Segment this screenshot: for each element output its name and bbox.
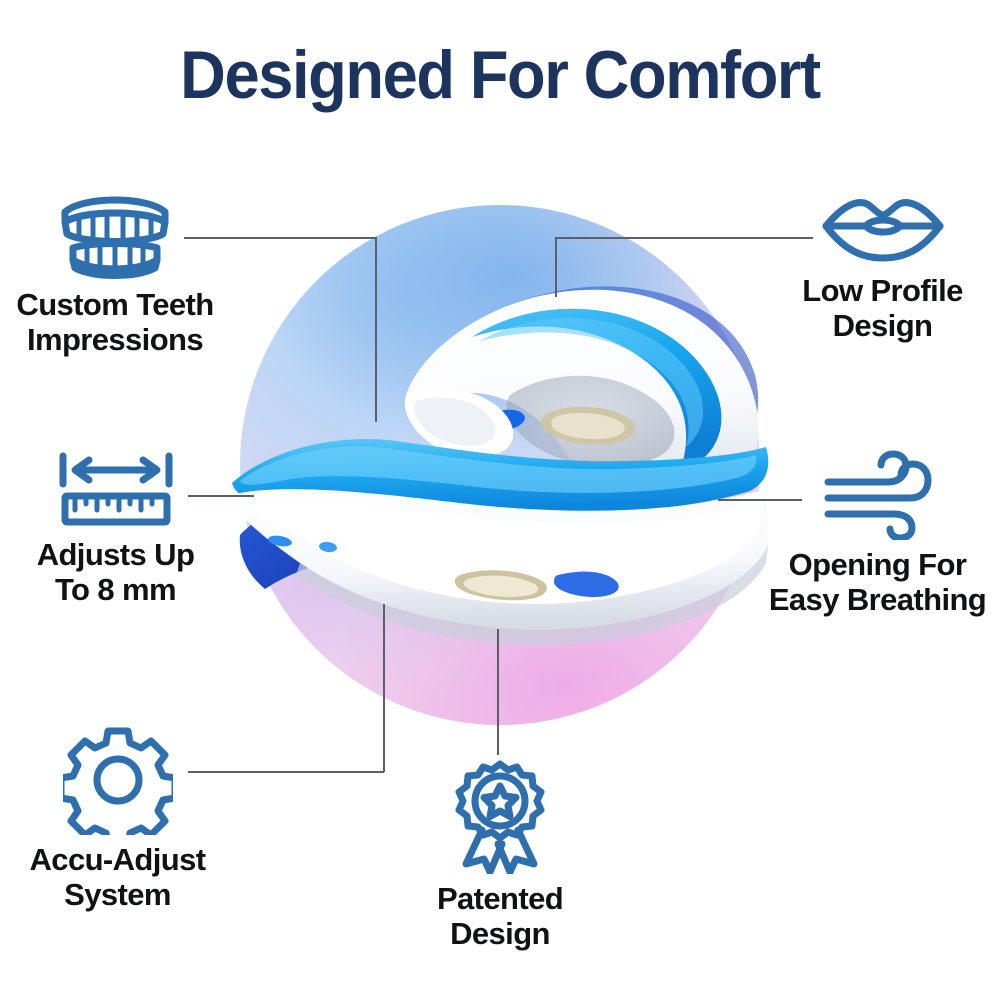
feature-label: Patented Design — [385, 882, 615, 951]
leader-line-lips-v — [555, 237, 557, 297]
mouthpiece-device-illustration — [210, 245, 790, 665]
feature-label: Custom Teeth Impressions — [0, 288, 235, 357]
feature-label: Adjusts Up To 8 mm — [8, 538, 223, 607]
feature-label: Low Profile Design — [765, 274, 1000, 343]
ruler-measure-icon — [8, 450, 223, 530]
lips-mouth-icon — [765, 188, 1000, 266]
page-title: Designed For Comfort — [35, 36, 965, 114]
feature-opening-for-easy-breathing[interactable]: Opening For Easy Breathing — [755, 450, 1000, 617]
gear-icon — [5, 725, 230, 835]
feature-label: Accu-Adjust System — [5, 843, 230, 912]
dentures-teeth-icon — [0, 188, 235, 280]
feature-adjusts-up-to-8mm[interactable]: Adjusts Up To 8 mm — [8, 450, 223, 607]
leader-line-gear-v — [383, 604, 385, 772]
feature-custom-teeth-impressions[interactable]: Custom Teeth Impressions — [0, 188, 235, 357]
leader-line-teeth-v — [375, 237, 377, 422]
leader-line-patent-v — [497, 629, 499, 755]
infographic-canvas: Designed For Comfort — [0, 0, 1000, 1000]
feature-low-profile-design[interactable]: Low Profile Design — [765, 188, 1000, 343]
award-ribbon-star-icon — [385, 758, 615, 874]
feature-patented-design[interactable]: Patented Design — [385, 758, 615, 951]
feature-label: Opening For Easy Breathing — [755, 548, 1000, 617]
wind-air-icon — [755, 450, 1000, 540]
feature-accu-adjust-system[interactable]: Accu-Adjust System — [5, 725, 230, 912]
